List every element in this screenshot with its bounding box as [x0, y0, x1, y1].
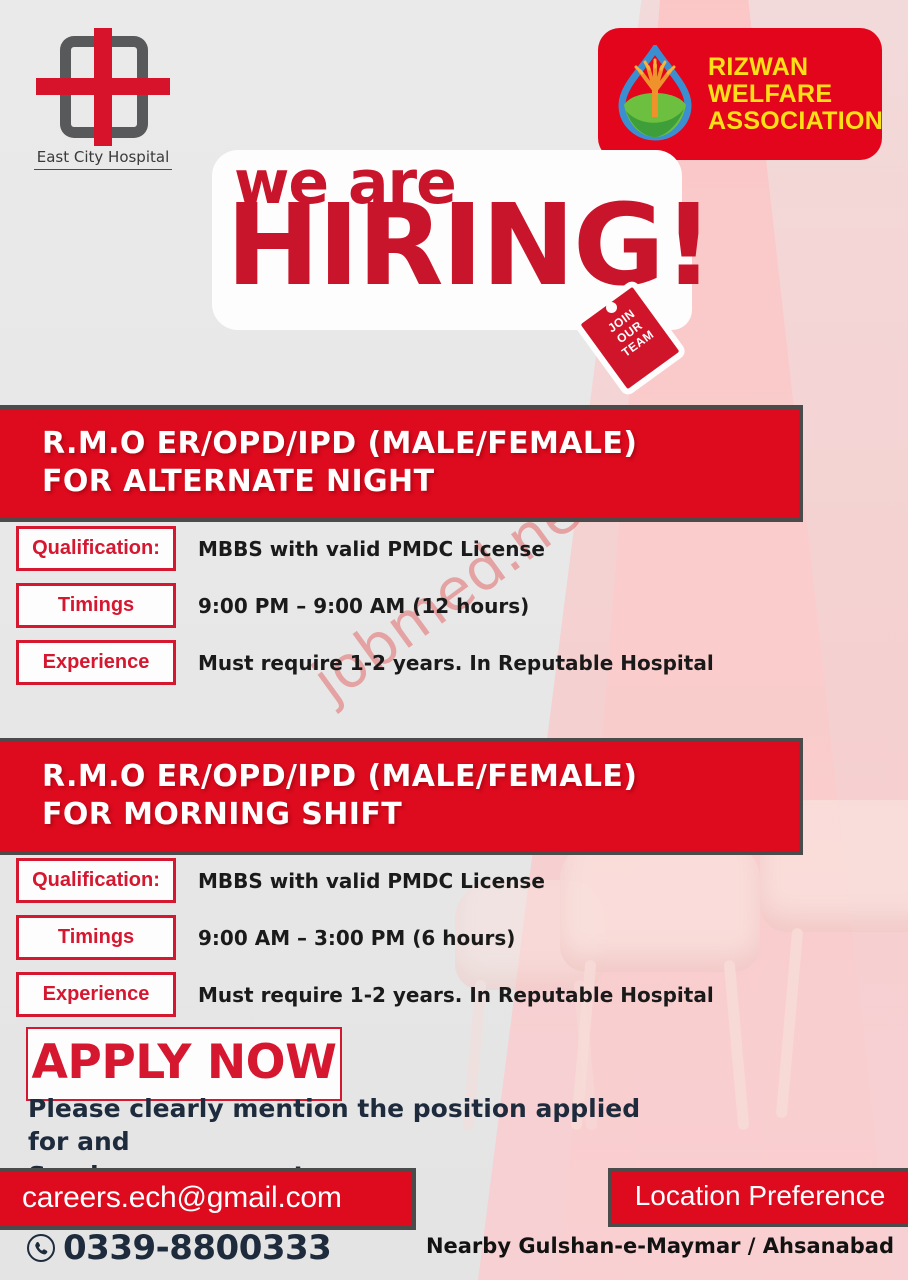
job-title-line-1: R.M.O ER/OPD/IPD (MALE/FEMALE) — [42, 425, 799, 463]
hospital-name: East City Hospital — [34, 146, 172, 170]
detail-label-timings: Timings — [16, 915, 176, 960]
association-logo: RIZWAN WELFARE ASSOCIATION — [598, 28, 882, 160]
job-title-line-2: FOR MORNING SHIFT — [42, 796, 799, 834]
location-preference-label: Location Preference — [608, 1168, 908, 1227]
apply-note-line-1: Please clearly mention the position appl… — [28, 1092, 688, 1159]
detail-value-timings: 9:00 AM – 3:00 PM (6 hours) — [198, 926, 515, 950]
job-detail-row: Experience Must require 1-2 years. In Re… — [16, 972, 714, 1017]
job-detail-row: Experience Must require 1-2 years. In Re… — [16, 640, 714, 685]
detail-value-qualification: MBBS with valid PMDC License — [198, 869, 545, 893]
job-title-banner: R.M.O ER/OPD/IPD (MALE/FEMALE) FOR ALTER… — [0, 405, 803, 522]
association-line-1: RIZWAN — [708, 54, 883, 81]
detail-value-experience: Must require 1-2 years. In Reputable Hos… — [198, 983, 714, 1007]
detail-value-experience: Must require 1-2 years. In Reputable Hos… — [198, 651, 714, 675]
email-address[interactable]: careers.ech@gmail.com — [0, 1168, 416, 1230]
join-our-team-tag: JOIN OUR TEAM — [592, 292, 668, 384]
job-detail-row: Qualification: MBBS with valid PMDC Lice… — [16, 858, 714, 903]
job-detail-row: Timings 9:00 AM – 3:00 PM (6 hours) — [16, 915, 714, 960]
job-detail-row: Qualification: MBBS with valid PMDC Lice… — [16, 526, 714, 571]
job-detail-row: Timings 9:00 PM – 9:00 AM (12 hours) — [16, 583, 714, 628]
detail-label-qualification: Qualification: — [16, 526, 176, 571]
association-line-2: WELFARE — [708, 81, 883, 108]
phone-contact[interactable]: 0339-8800333 — [26, 1228, 331, 1268]
job-detail-list: Qualification: MBBS with valid PMDC Lice… — [16, 526, 714, 697]
detail-label-experience: Experience — [16, 640, 176, 685]
job-title-banner: R.M.O ER/OPD/IPD (MALE/FEMALE) FOR MORNI… — [0, 738, 803, 855]
apply-now-button[interactable]: APPLY NOW — [26, 1027, 342, 1101]
phone-circle-icon — [26, 1233, 56, 1263]
job-title-line-1: R.M.O ER/OPD/IPD (MALE/FEMALE) — [42, 758, 799, 796]
location-preference-value: Nearby Gulshan-e-Maymar / Ahsanabad — [426, 1234, 894, 1258]
detail-label-qualification: Qualification: — [16, 858, 176, 903]
association-line-3: ASSOCIATION — [708, 108, 883, 135]
job-title-line-2: FOR ALTERNATE NIGHT — [42, 463, 799, 501]
association-name: RIZWAN WELFARE ASSOCIATION — [708, 54, 883, 135]
hiring-poster: East City Hospital RIZWAN WELFARE ASSOCI… — [0, 0, 908, 1280]
detail-value-qualification: MBBS with valid PMDC License — [198, 537, 545, 561]
phone-number: 0339-8800333 — [63, 1228, 331, 1268]
waterdrop-tree-icon — [612, 45, 698, 143]
detail-value-timings: 9:00 PM – 9:00 AM (12 hours) — [198, 594, 529, 618]
job-detail-list: Qualification: MBBS with valid PMDC Lice… — [16, 858, 714, 1029]
medical-cross-bracket-icon — [28, 28, 178, 146]
hospital-logo: East City Hospital — [28, 28, 178, 170]
detail-label-timings: Timings — [16, 583, 176, 628]
detail-label-experience: Experience — [16, 972, 176, 1017]
